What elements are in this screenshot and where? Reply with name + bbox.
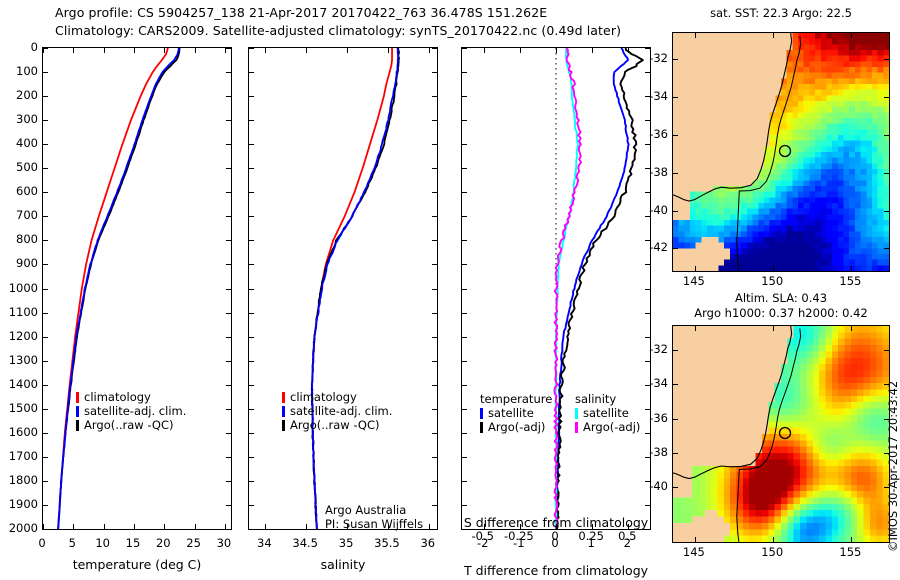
depth-label: 1600 — [0, 425, 38, 439]
legend-label: satellite-adj. clim. — [290, 404, 392, 418]
legend-label: Argo(-adj) — [488, 420, 545, 434]
lat-tick — [673, 135, 678, 136]
depth-tick — [249, 409, 254, 410]
sst-map-title: sat. SST: 22.3 Argo: 22.5 — [710, 6, 852, 20]
legend-item: climatology — [282, 390, 392, 404]
lon-tick — [695, 33, 696, 38]
legend-item: Argo(-adj) — [480, 420, 552, 434]
lat-tick — [673, 211, 678, 212]
x-label: 34 — [257, 536, 272, 550]
legend-label: climatology — [84, 390, 151, 404]
depth-tick — [226, 48, 231, 49]
depth-tick — [432, 289, 437, 290]
lat-tick — [884, 59, 889, 60]
depth-tick — [226, 505, 231, 506]
legend-swatch-climatology — [76, 392, 79, 403]
depth-tick — [43, 385, 48, 386]
legend-label: climatology — [290, 390, 357, 404]
sla-map-panel — [672, 325, 890, 543]
x-tick — [73, 524, 74, 529]
lat-label: -40 — [638, 203, 668, 217]
depth-label: 100 — [0, 64, 38, 78]
legend-swatch-s-satellite — [575, 408, 578, 419]
salinity-curves — [249, 48, 437, 529]
depth-tick — [43, 144, 48, 145]
legend-item: satellite-adj. clim. — [76, 404, 186, 418]
depth-tick — [432, 409, 437, 410]
depth-tick — [432, 120, 437, 121]
legend-item: Argo(..raw -QC) — [76, 418, 186, 432]
sst-map-panel — [672, 32, 890, 272]
legend-item: climatology — [76, 390, 186, 404]
depth-tick — [462, 481, 467, 482]
depth-label: 800 — [0, 232, 38, 246]
legend-item: satellite — [575, 406, 640, 420]
lon-label: 145 — [683, 545, 705, 559]
page-title-line2: Climatology: CARS2009. Satellite-adjuste… — [55, 23, 621, 38]
lat-label: -34 — [638, 89, 668, 103]
lat-label: -36 — [638, 127, 668, 141]
legend-item: Argo(..raw -QC) — [282, 418, 392, 432]
x-tick — [164, 524, 165, 529]
x-tick — [104, 48, 105, 53]
depth-tick — [462, 385, 467, 386]
x-tick — [73, 48, 74, 53]
depth-tick — [432, 529, 437, 530]
depth-tick — [645, 192, 650, 193]
depth-tick — [645, 505, 650, 506]
x-tick — [43, 524, 44, 529]
depth-label: 1900 — [0, 497, 38, 511]
depth-tick — [645, 144, 650, 145]
depth-tick — [226, 120, 231, 121]
depth-tick — [249, 48, 254, 49]
depth-tick — [462, 289, 467, 290]
lat-label: -38 — [638, 445, 668, 459]
salinity-profile-panel — [248, 47, 438, 530]
x-label: 0 — [38, 536, 45, 550]
lon-label: 150 — [761, 274, 783, 288]
depth-tick — [645, 120, 650, 121]
credit-line2: PI: Susan Wijffels — [325, 517, 423, 531]
depth-tick — [462, 168, 467, 169]
depth-tick — [249, 96, 254, 97]
lon-tick — [773, 33, 774, 38]
depth-label: 700 — [0, 208, 38, 222]
depth-tick — [226, 264, 231, 265]
depth-tick — [226, 144, 231, 145]
x-tick — [388, 48, 389, 53]
depth-tick — [432, 48, 437, 49]
depth-tick — [432, 240, 437, 241]
depth-tick — [462, 120, 467, 121]
depth-tick — [645, 48, 650, 49]
lat-tick — [884, 211, 889, 212]
depth-tick — [226, 240, 231, 241]
depth-tick — [645, 433, 650, 434]
depth-tick — [43, 192, 48, 193]
depth-tick — [432, 385, 437, 386]
depth-tick — [432, 313, 437, 314]
legend-swatch-t-argo-adj — [480, 422, 483, 433]
depth-tick — [43, 337, 48, 338]
sla-map-title-line1: Altim. SLA: 0.43 — [735, 291, 827, 305]
lat-tick — [673, 59, 678, 60]
depth-tick — [226, 192, 231, 193]
salinity-legend: climatology satellite-adj. clim. Argo(..… — [282, 390, 392, 432]
difference-profile-panel — [461, 47, 651, 530]
x-label: 34.5 — [292, 536, 318, 550]
depth-tick — [43, 361, 48, 362]
x-tick — [347, 48, 348, 53]
depth-label: 200 — [0, 88, 38, 102]
legend-swatch-satellite-adj — [282, 406, 285, 417]
lon-label: 145 — [683, 274, 705, 288]
temperature-profile-panel — [42, 47, 232, 530]
x-label: 10 — [95, 536, 110, 550]
depth-label: 1000 — [0, 281, 38, 295]
legend-item: Argo(-adj) — [575, 420, 640, 434]
depth-tick — [43, 409, 48, 410]
x-label-bottom: 2 — [624, 536, 631, 550]
depth-tick — [43, 168, 48, 169]
lat-tick — [884, 97, 889, 98]
depth-tick — [226, 216, 231, 217]
depth-tick — [249, 264, 254, 265]
legend-label: satellite — [583, 406, 629, 420]
legend-item: satellite-adj. clim. — [282, 404, 392, 418]
depth-tick — [249, 505, 254, 506]
depth-tick — [226, 529, 231, 530]
legend-heading-salinity: salinity — [575, 392, 640, 406]
imos-credit: ©IMOS 30-Apr-2017 20:43:42 — [886, 381, 900, 552]
x-tick — [429, 524, 430, 529]
depth-tick — [645, 313, 650, 314]
lon-tick — [773, 266, 774, 271]
sla-map-image — [673, 326, 889, 542]
depth-tick — [432, 481, 437, 482]
legend-swatch-t-satellite — [480, 408, 483, 419]
depth-tick — [462, 72, 467, 73]
x-label: 35 — [339, 536, 354, 550]
depth-tick — [43, 240, 48, 241]
x-label-bottom: 0 — [551, 536, 558, 550]
lon-tick — [773, 537, 774, 542]
depth-tick — [432, 96, 437, 97]
depth-label: 1700 — [0, 449, 38, 463]
depth-label: 600 — [0, 184, 38, 198]
x-tick — [225, 524, 226, 529]
depth-tick — [226, 457, 231, 458]
legend-swatch-s-argo-adj — [575, 422, 578, 433]
x-tick — [306, 48, 307, 53]
depth-tick — [432, 337, 437, 338]
x-tick — [104, 524, 105, 529]
depth-tick — [249, 120, 254, 121]
x-tick — [134, 48, 135, 53]
depth-tick — [462, 409, 467, 410]
temperature-axis-title: temperature (deg C) — [73, 557, 202, 572]
depth-tick — [249, 192, 254, 193]
depth-tick — [645, 337, 650, 338]
depth-tick — [226, 361, 231, 362]
x-label: 25 — [186, 536, 201, 550]
salinity-axis-title: salinity — [321, 557, 366, 572]
lat-label: -42 — [638, 240, 668, 254]
lon-tick — [851, 326, 852, 331]
x-tick — [164, 48, 165, 53]
depth-tick — [432, 457, 437, 458]
legend-label: Argo(..raw -QC) — [290, 418, 380, 432]
credit-line1: Argo Australia — [325, 503, 423, 517]
lat-tick — [673, 419, 678, 420]
x-label-bottom: 1 — [587, 536, 594, 550]
x-tick — [306, 524, 307, 529]
page-title-line1: Argo profile: CS 5904257_138 21-Apr-2017… — [55, 5, 547, 20]
depth-tick — [432, 216, 437, 217]
depth-tick — [43, 289, 48, 290]
depth-label: 500 — [0, 160, 38, 174]
lat-tick — [673, 350, 678, 351]
depth-tick — [43, 529, 48, 530]
depth-tick — [226, 168, 231, 169]
lat-label: -34 — [638, 376, 668, 390]
depth-tick — [432, 505, 437, 506]
legend-swatch-satellite-adj — [76, 406, 79, 417]
legend-label: Argo(..raw -QC) — [84, 418, 174, 432]
temperature-curves — [43, 48, 231, 529]
legend-label: satellite — [488, 406, 534, 420]
lon-label: 155 — [839, 545, 861, 559]
depth-tick — [226, 72, 231, 73]
x-tick — [265, 524, 266, 529]
depth-tick — [226, 409, 231, 410]
lat-tick — [884, 350, 889, 351]
depth-tick — [43, 505, 48, 506]
depth-tick — [226, 481, 231, 482]
depth-tick — [432, 264, 437, 265]
depth-label: 1800 — [0, 473, 38, 487]
depth-tick — [462, 96, 467, 97]
x-tick — [225, 48, 226, 53]
lon-label: 155 — [839, 274, 861, 288]
lat-tick — [884, 135, 889, 136]
lat-label: -32 — [638, 51, 668, 65]
depth-tick — [43, 457, 48, 458]
x-tick — [265, 48, 266, 53]
depth-label: 400 — [0, 136, 38, 150]
x-tick — [429, 48, 430, 53]
depth-tick — [249, 529, 254, 530]
depth-tick — [432, 144, 437, 145]
depth-tick — [462, 505, 467, 506]
depth-tick — [226, 96, 231, 97]
legend-swatch-climatology — [282, 392, 285, 403]
depth-label: 0 — [0, 40, 38, 54]
lat-tick — [884, 248, 889, 249]
x-label: 35.5 — [374, 536, 400, 550]
lat-tick — [673, 248, 678, 249]
salinity-plot-area — [249, 48, 437, 529]
lat-tick — [673, 384, 678, 385]
difference-legend-salinity: salinity satellite Argo(-adj) — [575, 392, 640, 434]
depth-tick — [645, 264, 650, 265]
depth-tick — [249, 385, 254, 386]
x-tick — [134, 524, 135, 529]
x-tick-top — [520, 48, 521, 53]
lat-label: -38 — [638, 165, 668, 179]
depth-tick — [462, 216, 467, 217]
lat-tick — [673, 453, 678, 454]
x-label: 15 — [126, 536, 141, 550]
depth-tick — [43, 481, 48, 482]
depth-tick — [432, 72, 437, 73]
x-tick-top — [556, 48, 557, 53]
x-label: 20 — [156, 536, 171, 550]
legend-label: satellite-adj. clim. — [84, 404, 186, 418]
lon-tick — [851, 537, 852, 542]
depth-tick — [432, 168, 437, 169]
x-tick — [43, 48, 44, 53]
depth-tick — [249, 72, 254, 73]
depth-tick — [462, 144, 467, 145]
lat-label: -36 — [638, 411, 668, 425]
sla-map-title-line2: Argo h1000: 0.37 h2000: 0.42 — [694, 306, 867, 320]
salinity-difference-axis-title: S difference from climatology — [464, 515, 648, 530]
depth-tick — [249, 289, 254, 290]
lon-tick — [851, 33, 852, 38]
depth-label: 1300 — [0, 353, 38, 367]
x-label: 30 — [217, 536, 232, 550]
depth-label: 1100 — [0, 305, 38, 319]
depth-tick — [462, 313, 467, 314]
depth-tick — [462, 264, 467, 265]
lon-tick — [695, 537, 696, 542]
legend-swatch-argo-raw — [282, 420, 285, 431]
legend-label: Argo(-adj) — [583, 420, 640, 434]
depth-tick — [249, 216, 254, 217]
legend-heading-temperature: temperature — [480, 392, 552, 406]
depth-tick — [249, 457, 254, 458]
depth-tick — [226, 337, 231, 338]
difference-legend-temperature: temperature satellite Argo(-adj) — [480, 392, 552, 434]
depth-tick — [249, 361, 254, 362]
x-tick — [195, 48, 196, 53]
difference-curves — [462, 48, 650, 529]
depth-tick — [249, 144, 254, 145]
depth-tick — [462, 361, 467, 362]
x-tick-top — [592, 48, 593, 53]
x-label-bottom: -1 — [513, 536, 524, 550]
depth-tick — [462, 433, 467, 434]
depth-tick — [43, 264, 48, 265]
x-tick — [195, 524, 196, 529]
depth-tick — [432, 192, 437, 193]
lon-tick — [695, 266, 696, 271]
depth-tick — [462, 48, 467, 49]
depth-tick — [462, 337, 467, 338]
depth-label: 1200 — [0, 329, 38, 343]
depth-tick — [249, 240, 254, 241]
lat-tick — [884, 173, 889, 174]
sst-map-image — [673, 33, 889, 271]
depth-tick — [645, 361, 650, 362]
depth-label: 300 — [0, 112, 38, 126]
lat-tick — [673, 97, 678, 98]
depth-tick — [645, 289, 650, 290]
depth-tick — [226, 289, 231, 290]
lat-tick — [673, 487, 678, 488]
depth-tick — [432, 433, 437, 434]
lon-tick — [695, 326, 696, 331]
depth-label: 900 — [0, 256, 38, 270]
x-label: 5 — [69, 536, 76, 550]
lon-label: 150 — [761, 545, 783, 559]
depth-tick — [43, 433, 48, 434]
x-tick-top — [628, 48, 629, 53]
depth-tick — [462, 192, 467, 193]
legend-swatch-argo-raw — [76, 420, 79, 431]
x-label-bottom: -2 — [477, 536, 488, 550]
lat-label: -40 — [638, 479, 668, 493]
depth-tick — [462, 457, 467, 458]
lon-tick — [851, 266, 852, 271]
depth-tick — [43, 313, 48, 314]
depth-tick — [43, 96, 48, 97]
depth-label: 2000 — [0, 521, 38, 535]
depth-label: 1500 — [0, 401, 38, 415]
lat-label: -32 — [638, 342, 668, 356]
depth-tick — [43, 216, 48, 217]
depth-label: 1400 — [0, 377, 38, 391]
x-tick-top — [484, 48, 485, 53]
lat-tick — [673, 173, 678, 174]
depth-tick — [645, 409, 650, 410]
depth-tick — [462, 240, 467, 241]
depth-tick — [249, 337, 254, 338]
difference-plot-area — [462, 48, 650, 529]
temperature-plot-area — [43, 48, 231, 529]
depth-tick — [249, 481, 254, 482]
depth-tick — [226, 385, 231, 386]
depth-tick — [43, 72, 48, 73]
depth-tick — [249, 433, 254, 434]
depth-tick — [249, 168, 254, 169]
temperature-difference-axis-title: T difference from climatology — [464, 563, 648, 578]
argo-program-credit: Argo Australia PI: Susan Wijffels — [325, 503, 423, 531]
temperature-legend: climatology satellite-adj. clim. Argo(..… — [76, 390, 186, 432]
x-label: 36 — [420, 536, 435, 550]
depth-tick — [432, 361, 437, 362]
lon-tick — [773, 326, 774, 331]
depth-tick — [43, 120, 48, 121]
legend-item: satellite — [480, 406, 552, 420]
depth-tick — [645, 72, 650, 73]
depth-tick — [249, 313, 254, 314]
depth-tick — [226, 433, 231, 434]
depth-tick — [226, 313, 231, 314]
